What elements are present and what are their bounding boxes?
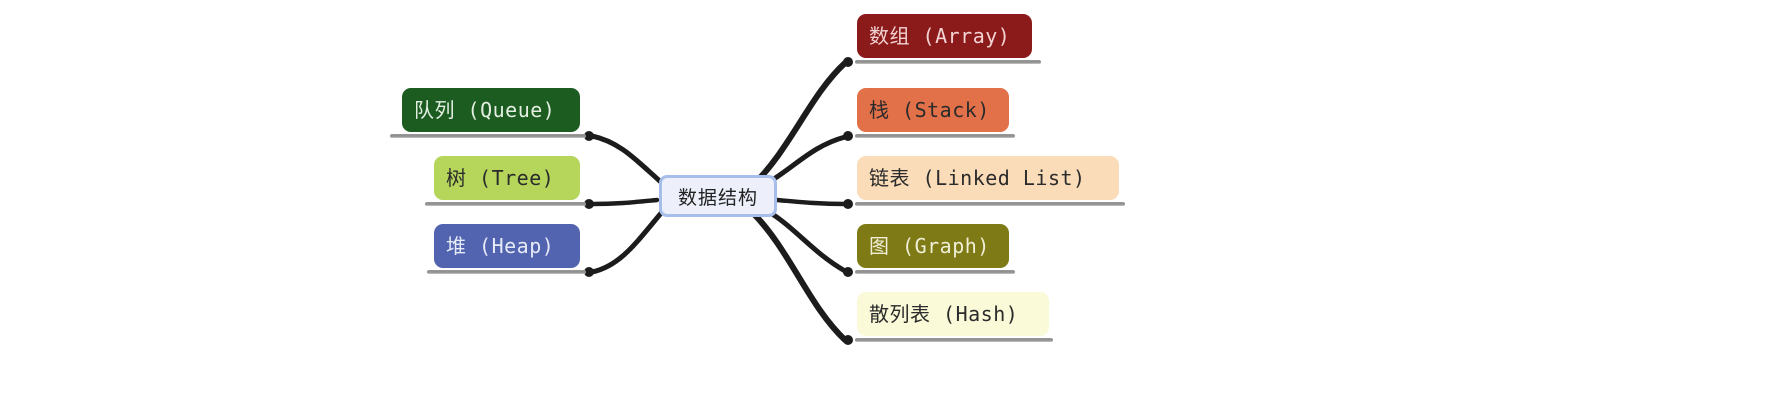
underbar-graph xyxy=(855,270,1015,274)
node-tree[interactable]: 树 (Tree) xyxy=(434,156,580,200)
edge-center-to-tree xyxy=(592,200,657,204)
edge-endpoint-hash xyxy=(843,335,853,345)
underbar-tree xyxy=(425,202,586,206)
underbar-stack xyxy=(855,134,1015,138)
edge-endpoint-graph xyxy=(843,267,853,277)
node-heap[interactable]: 堆 (Heap) xyxy=(434,224,580,268)
underbar-hash xyxy=(855,338,1053,342)
node-linked-list[interactable]: 链表 (Linked List) xyxy=(857,156,1119,200)
edge-endpoint-array xyxy=(843,57,853,67)
underbar-heap xyxy=(427,270,586,274)
edge-center-to-queue xyxy=(592,136,662,183)
node-array[interactable]: 数组 (Array) xyxy=(857,14,1032,58)
edge-endpoint-linked-list xyxy=(843,199,853,209)
node-graph[interactable]: 图 (Graph) xyxy=(857,224,1009,268)
node-hash[interactable]: 散列表 (Hash) xyxy=(857,292,1049,336)
edge-center-to-linked-list xyxy=(777,200,845,204)
edge-endpoint-stack xyxy=(843,131,853,141)
node-stack[interactable]: 栈 (Stack) xyxy=(857,88,1009,132)
edge-center-to-graph xyxy=(766,210,845,271)
edge-center-to-array xyxy=(752,63,845,186)
underbar-array xyxy=(855,60,1041,64)
node-center-data-structure[interactable]: 数据结构 xyxy=(659,175,777,217)
edge-center-to-hash xyxy=(752,212,845,340)
edge-center-to-heap xyxy=(592,212,662,272)
edge-center-to-stack xyxy=(766,137,845,184)
mindmap-canvas: 数组 (Array) 栈 (Stack) 链表 (Linked List) 图 … xyxy=(0,0,1792,404)
node-queue[interactable]: 队列 (Queue) xyxy=(402,88,580,132)
underbar-queue xyxy=(390,134,586,138)
underbar-linked-list xyxy=(855,202,1125,206)
